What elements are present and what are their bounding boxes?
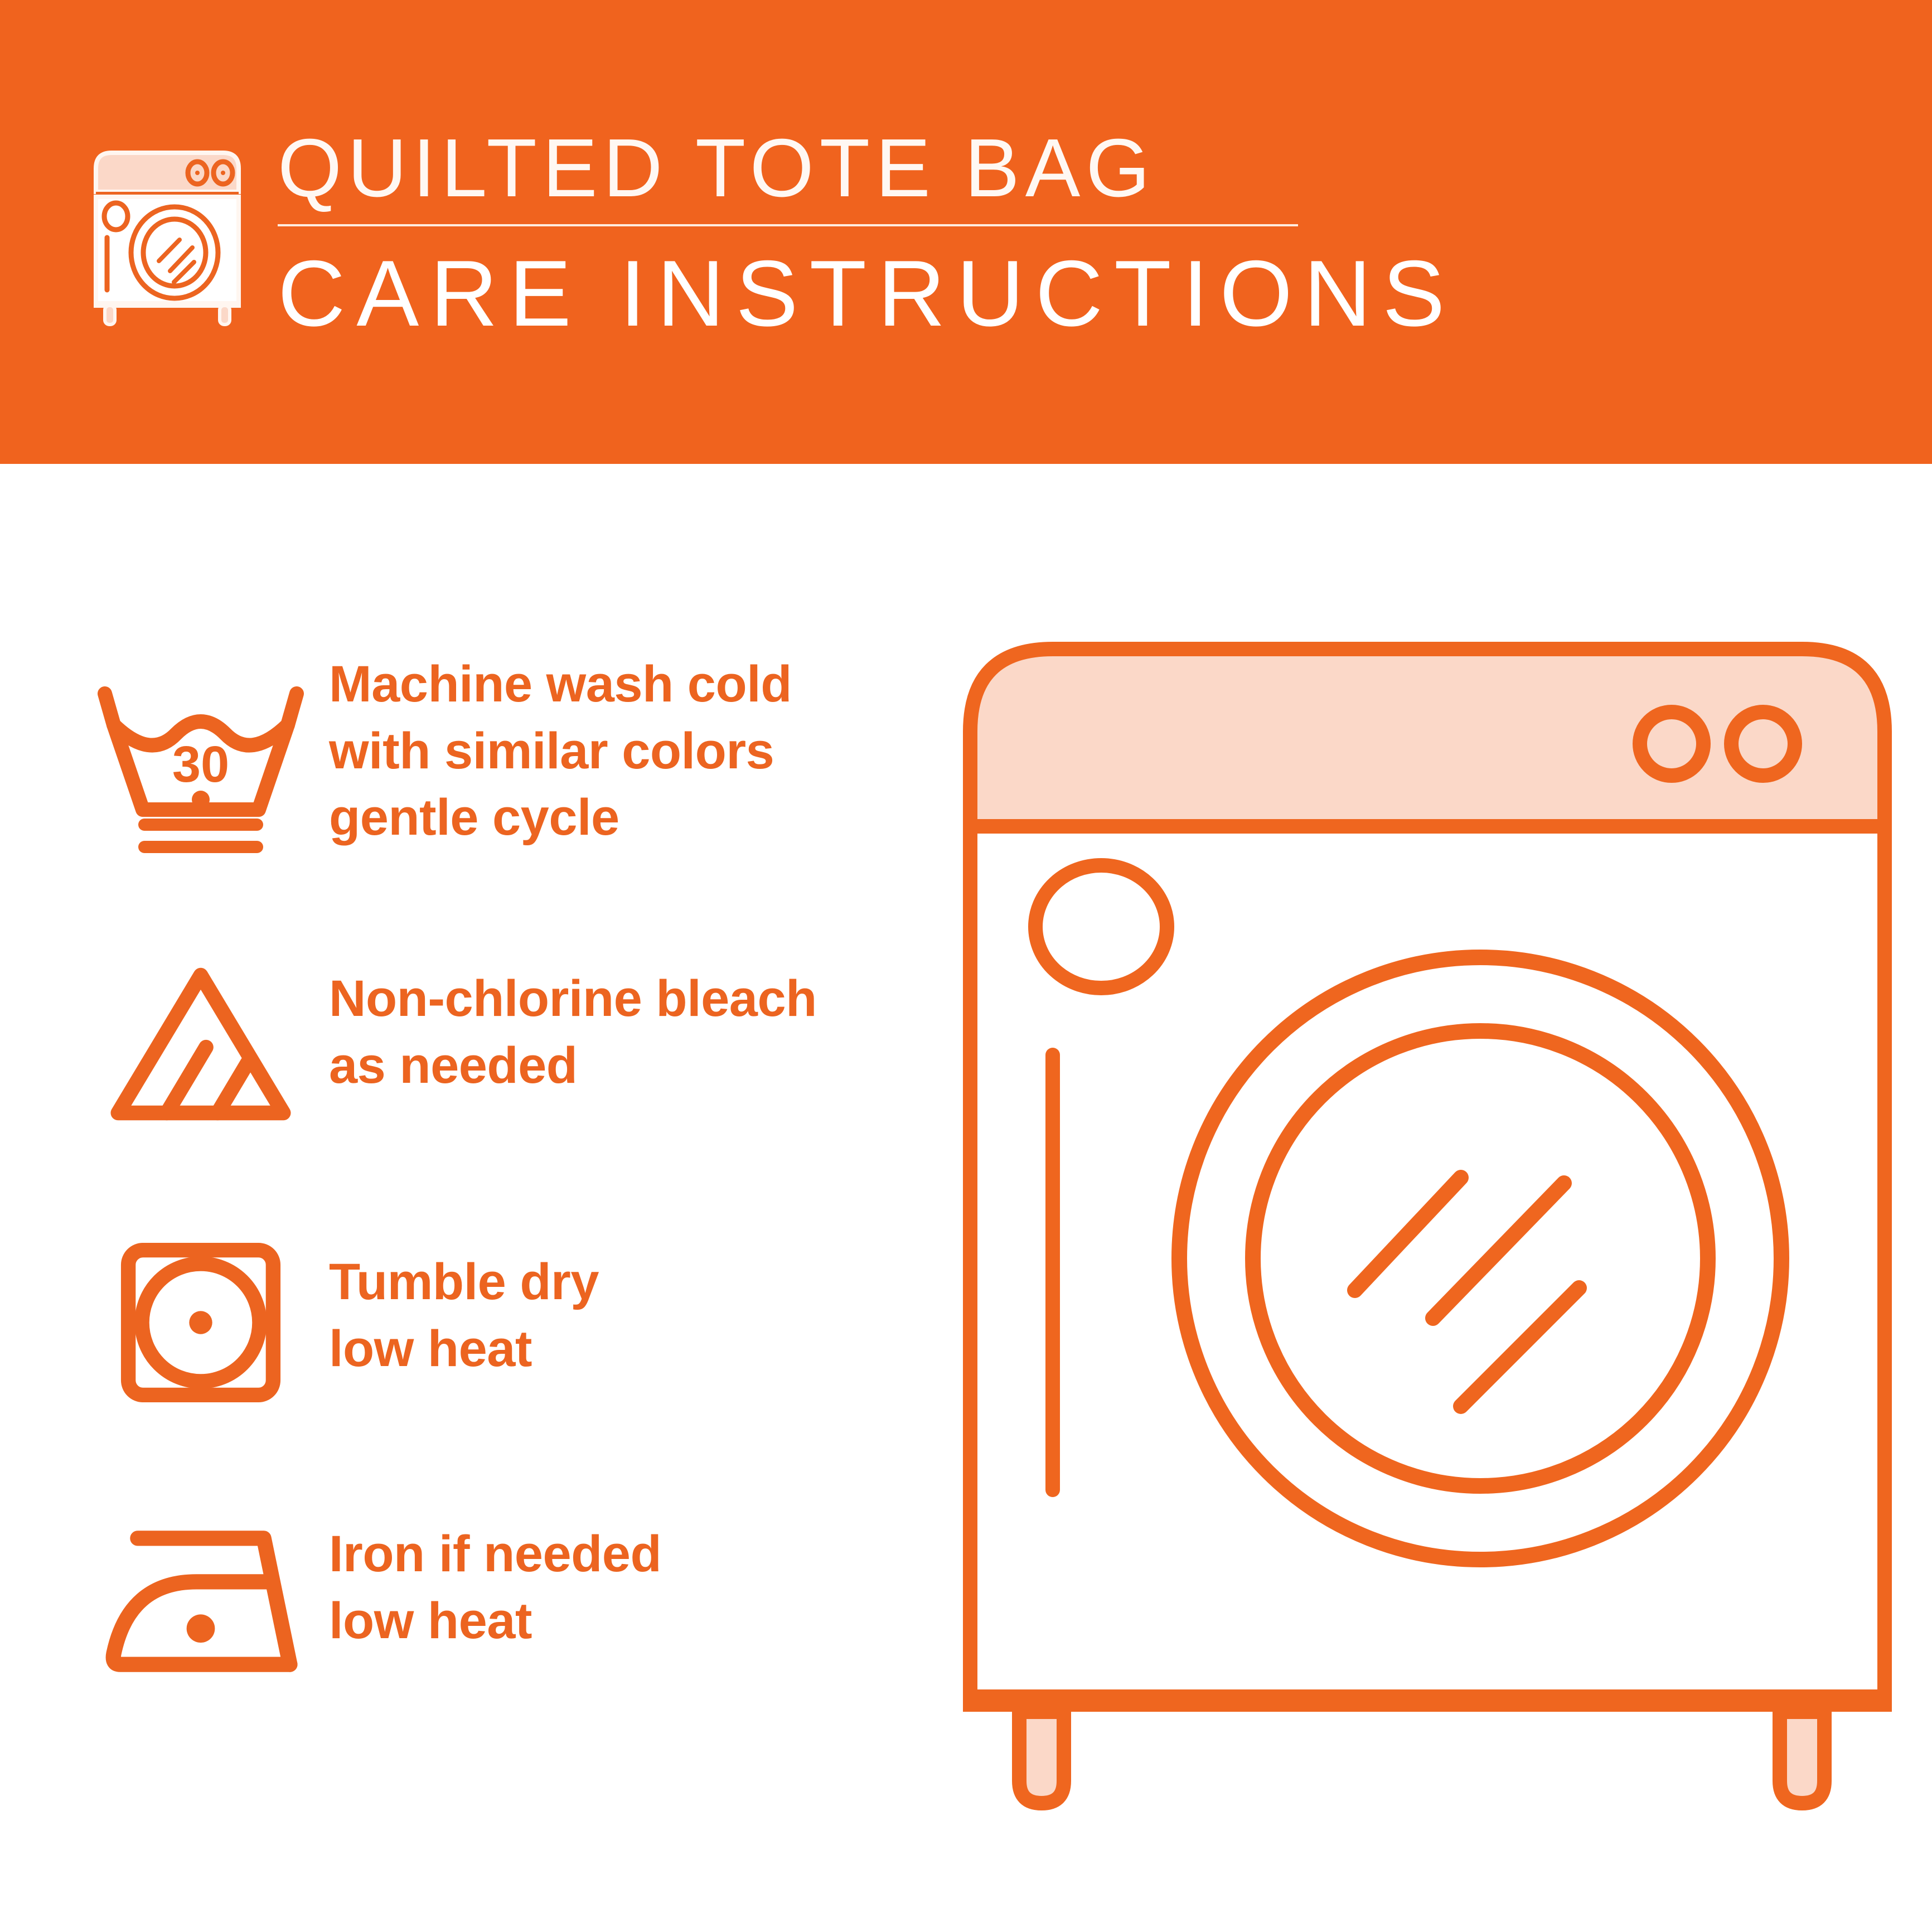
control-knob-left [1640, 712, 1703, 776]
wash-temperature-value: 30 [172, 736, 229, 793]
care-row-bleach: Non-chlorine bleach as needed [84, 927, 881, 1205]
care-label-bleach: Non-chlorine bleach as needed [318, 927, 881, 1099]
header-content: QUILTED TOTE BAG CARE INSTRUCTIONS [84, 127, 1456, 340]
care-label-tumble-dry: Tumble dry low heat [318, 1205, 881, 1382]
header-titles: QUILTED TOTE BAG CARE INSTRUCTIONS [278, 127, 1456, 340]
washing-machine-icon [84, 138, 251, 328]
care-label-iron: Iron if needed low heat [318, 1484, 881, 1654]
machine-foot-left [1019, 1712, 1064, 1803]
front-load-washing-machine-illustration [948, 614, 1907, 1841]
control-knob-right [1731, 712, 1795, 776]
machine-base [970, 1689, 1885, 1712]
title-divider [278, 224, 1298, 226]
care-label-wash: Machine wash cold with similar colors ge… [318, 648, 881, 851]
tumble-dry-low-icon [84, 1205, 318, 1440]
iron-low-heat-icon [84, 1484, 318, 1718]
page-title: QUILTED TOTE BAG [278, 127, 1456, 224]
main-content: 30 Machine wash cold with similar colors… [0, 464, 1932, 1932]
header-banner: QUILTED TOTE BAG CARE INSTRUCTIONS [0, 0, 1932, 464]
wash-basin-30-gentle-icon: 30 [84, 648, 318, 882]
machine-foot-right [1780, 1712, 1824, 1803]
page-subtitle: CARE INSTRUCTIONS [278, 246, 1456, 340]
care-instruction-list: 30 Machine wash cold with similar colors… [84, 648, 881, 1763]
non-chlorine-bleach-triangle-icon [84, 927, 318, 1161]
care-row-iron: Iron if needed low heat [84, 1484, 881, 1763]
care-row-wash: 30 Machine wash cold with similar colors… [84, 648, 881, 927]
care-row-tumble-dry: Tumble dry low heat [84, 1205, 881, 1484]
